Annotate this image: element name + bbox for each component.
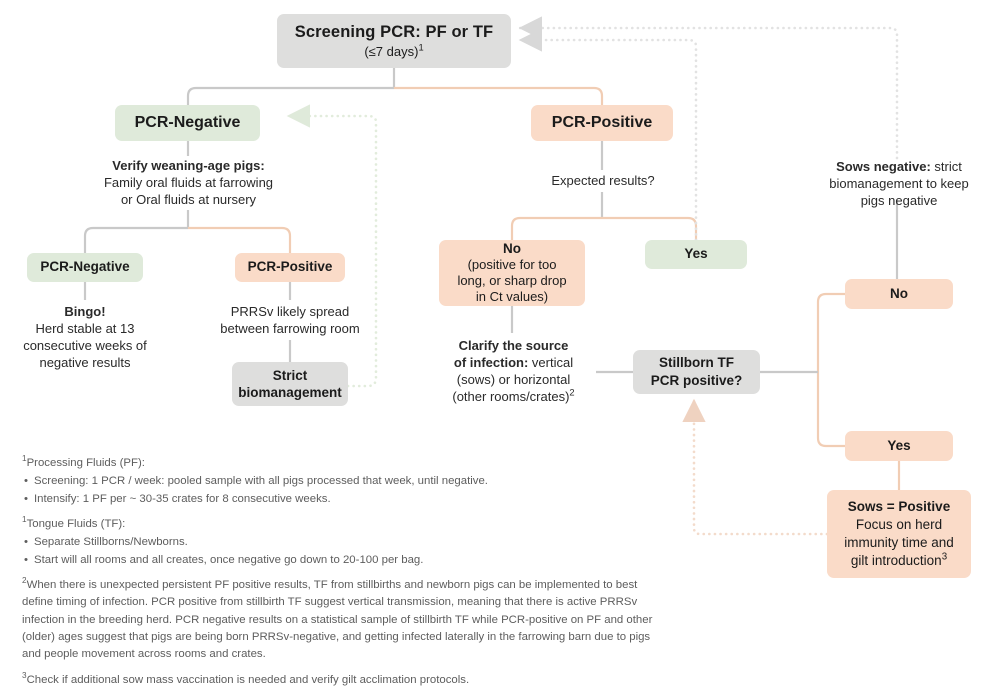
node-screening-pcr[interactable]: Screening PCR: PF or TF (≤7 days)1 [277,14,511,68]
list-item: Start will all rooms and all creates, on… [22,552,672,569]
node-label-line3: in Ct values) [476,289,548,305]
footnote-tongue-fluids: 1Tongue Fluids (TF): Separate Stillborns… [22,516,672,569]
node-pcr-positive-primary[interactable]: PCR-Positive [531,105,673,141]
label-line1-bold: Sows negative: [836,159,931,174]
node-pcr-positive-secondary[interactable]: PCR-Positive [235,253,345,282]
label-line3: or Oral fluids at nursery [121,192,256,207]
label-line2-rest: vertical [528,355,573,370]
footnote-ref-3: 3 [942,552,947,563]
list-item: Screening: 1 PCR / week: pooled sample w… [22,473,672,490]
footnote-list: Screening: 1 PCR / week: pooled sample w… [22,473,672,508]
label-line3: consecutive weeks of [23,338,147,353]
footnote-processing-fluids: 1Processing Fluids (PF): Screening: 1 PC… [22,455,672,508]
label-line1: Clarify the source [459,338,569,353]
label-line2: Herd stable at 13 [35,321,134,336]
label-line1: PRRSv likely spread [231,304,350,319]
node-label: PCR-Negative [135,113,241,133]
label-sows-negative-biomanagement: Sows negative: strict biomanagement to k… [806,158,992,209]
label-line4: negative results [39,355,130,370]
footnote-heading: 1Tongue Fluids (TF): [22,516,672,533]
node-label: PCR-Positive [248,259,333,275]
label-line2: Family oral fluids at farrowing [104,175,273,190]
node-label-line2: long, or sharp drop [457,273,566,289]
label-line2: between farrowing room [220,321,359,336]
footnote-heading: 1Processing Fluids (PF): [22,455,672,472]
footnote-note-2: 2When there is unexpected persistent PF … [22,577,667,664]
node-label-line2: PCR positive? [651,372,743,390]
node-stillborn-no[interactable]: No [845,279,953,309]
label-line3: pigs negative [861,193,938,208]
label-line2-bold: of infection: [454,355,528,370]
node-label: Yes [887,438,910,454]
screening-subtitle: (≤7 days)1 [364,44,423,60]
label-line1-rest: strict [931,159,962,174]
node-stillborn-tf-pcr-positive[interactable]: Stillborn TF PCR positive? [633,350,760,394]
node-expected-results-yes[interactable]: Yes [645,240,747,269]
flowchart-canvas: Screening PCR: PF or TF (≤7 days)1 PCR-N… [0,0,1000,644]
footnote-ref-1: 1 [418,43,423,53]
node-label-line3: gilt introduction3 [851,552,947,570]
label-prrsv-likely-spread: PRRSv likely spread between farrowing ro… [212,303,368,337]
label-clarify-source-of-infection: Clarify the source of infection: vertica… [432,337,595,406]
label-line3: (sows) or horizontal [457,372,570,387]
node-title: Sows = Positive [848,498,950,516]
node-title: No [503,241,521,257]
node-label-line1: (positive for too [468,257,557,273]
screening-title: Screening PCR: PF or TF [295,22,494,42]
node-label-line1: Focus on herd [856,516,942,534]
node-pcr-negative-secondary[interactable]: PCR-Negative [27,253,143,282]
label-line4: (other rooms/crates) [452,389,569,404]
node-label-line2: immunity time and [844,534,954,552]
label-line2: biomanagement to keep [829,176,968,191]
label-line1: Expected results? [551,173,654,188]
footnote-ref-2: 2 [569,388,574,398]
label-expected-results: Expected results? [520,172,686,189]
node-label-line1: Stillborn TF [659,354,734,372]
node-label: No [890,286,908,302]
footnote-note-3: 3Check if additional sow mass vaccinatio… [22,672,667,689]
node-pcr-negative-primary[interactable]: PCR-Negative [115,105,260,141]
node-label-line1: Strict [273,367,308,384]
list-item: Separate Stillborns/Newborns. [22,534,672,551]
footnote-list: Separate Stillborns/Newborns. Start will… [22,534,672,569]
list-item: Intensify: 1 PF per ~ 30-35 crates for 8… [22,491,672,508]
label-line1: Bingo! [64,304,105,319]
node-stillborn-yes[interactable]: Yes [845,431,953,461]
footnotes-block: 1Processing Fluids (PF): Screening: 1 PC… [22,455,672,697]
node-label: PCR-Negative [40,259,129,275]
node-label: Yes [684,246,707,262]
label-line1: Verify weaning-age pigs: [112,158,264,173]
node-strict-biomanagement[interactable]: Strict biomanagement [232,362,348,406]
node-expected-results-no[interactable]: No (positive for too long, or sharp drop… [439,240,585,306]
node-label-line2: biomanagement [238,384,342,401]
node-label: PCR-Positive [552,113,652,133]
node-sows-positive[interactable]: Sows = Positive Focus on herd immunity t… [827,490,971,578]
label-verify-weaning-age-pigs: Verify weaning-age pigs: Family oral flu… [86,157,291,208]
label-bingo-herd-stable: Bingo! Herd stable at 13 consecutive wee… [20,303,150,372]
